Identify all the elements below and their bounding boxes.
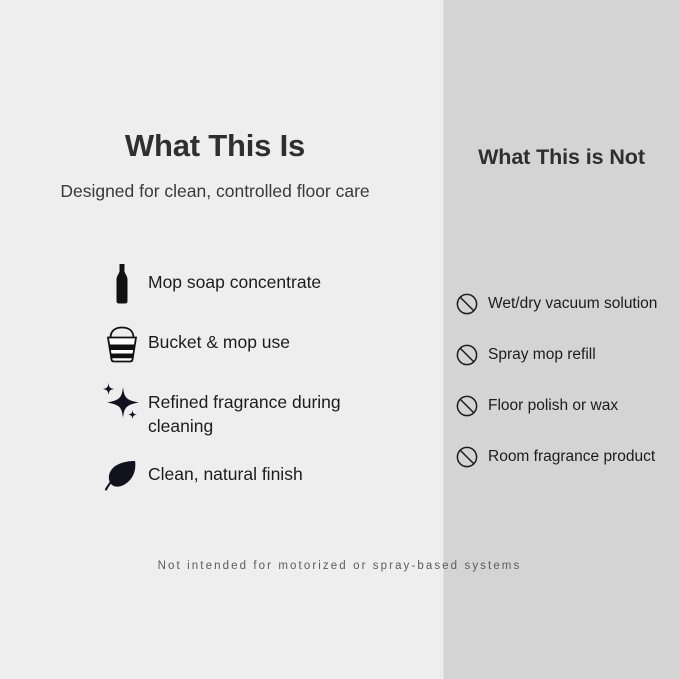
list-item: Mop soap concentrate bbox=[96, 262, 426, 306]
list-item-label: Clean, natural finish bbox=[148, 454, 303, 486]
right-panel-title: What This is Not bbox=[444, 145, 679, 170]
list-item-label: Mop soap concentrate bbox=[148, 262, 321, 294]
list-item: Bucket & mop use bbox=[96, 322, 426, 366]
list-item-label: Bucket & mop use bbox=[148, 322, 290, 354]
list-item: Room fragrance product bbox=[452, 431, 679, 482]
list-item-label: Refined fragrance during cleaning bbox=[148, 382, 380, 438]
footer-disclaimer: Not intended for motorized or spray-base… bbox=[0, 560, 679, 572]
leaf-icon bbox=[96, 454, 148, 498]
prohibited-icon bbox=[452, 442, 482, 472]
list-item: Clean, natural finish bbox=[96, 454, 426, 498]
bucket-icon bbox=[96, 322, 148, 366]
benefits-list: Mop soap concentrate Bucket & mop use bbox=[96, 262, 426, 514]
bottle-icon bbox=[96, 262, 148, 306]
comparison-infographic: What This Is Designed for clean, control… bbox=[0, 0, 679, 679]
list-item-label: Floor polish or wax bbox=[482, 396, 618, 415]
list-item-label: Room fragrance product bbox=[482, 447, 655, 466]
list-item: Refined fragrance during cleaning bbox=[96, 382, 426, 438]
left-panel-title: What This Is bbox=[0, 128, 430, 164]
prohibited-icon bbox=[452, 391, 482, 421]
prohibited-icon bbox=[452, 289, 482, 319]
list-item-label: Wet/dry vacuum solution bbox=[482, 294, 657, 313]
left-panel-subtitle: Designed for clean, controlled floor car… bbox=[0, 180, 430, 203]
list-item: Spray mop refill bbox=[452, 329, 679, 380]
list-item: Wet/dry vacuum solution bbox=[452, 278, 679, 329]
prohibited-icon bbox=[452, 340, 482, 370]
exclusions-list: Wet/dry vacuum solution Spray mop refill… bbox=[452, 278, 679, 482]
sparkle-icon bbox=[96, 382, 148, 426]
list-item: Floor polish or wax bbox=[452, 380, 679, 431]
list-item-label: Spray mop refill bbox=[482, 345, 596, 364]
